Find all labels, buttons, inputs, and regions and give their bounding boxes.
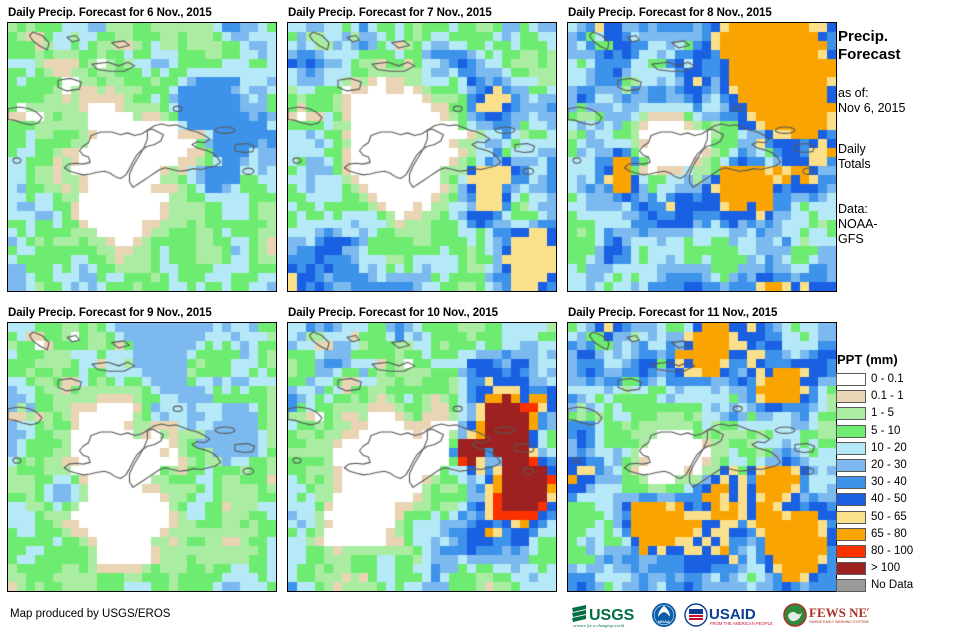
svg-text:science for a changing world: science for a changing world (573, 623, 625, 628)
map-box[interactable] (567, 322, 837, 592)
precip-raster-4[interactable] (288, 323, 556, 591)
map-box[interactable] (7, 22, 277, 292)
panel-4: Daily Precip. Forecast for 10 Nov., 2015 (287, 306, 557, 592)
precip-raster-2[interactable] (568, 23, 836, 291)
legend-title: PPT (mm) (837, 352, 968, 367)
legend-label: 0 - 0.1 (871, 373, 904, 386)
legend-item: 0 - 0.1 (836, 371, 968, 388)
legend-swatch (836, 476, 866, 489)
legend-item: 0.1 - 1 (836, 388, 968, 405)
legend-item: No Data (836, 577, 968, 594)
legend-label: 50 - 65 (871, 511, 907, 524)
panel-title: Daily Precip. Forecast for 6 Nov., 2015 (8, 6, 277, 20)
legend-item: 40 - 50 (836, 491, 968, 508)
legend-swatch (836, 442, 866, 455)
legend-swatch (836, 511, 866, 524)
legend-item: 30 - 40 (836, 474, 968, 491)
panel-title: Daily Precip. Forecast for 8 Nov., 2015 (568, 6, 837, 20)
usgs-logo[interactable]: USGS science for a changing world (570, 601, 644, 629)
legend-item: 10 - 20 (836, 440, 968, 457)
legend-swatch (836, 390, 866, 403)
legend-label: 40 - 50 (871, 493, 907, 506)
totals-line2: Totals (838, 157, 968, 172)
legend-item: 20 - 30 (836, 457, 968, 474)
panel-2: Daily Precip. Forecast for 8 Nov., 2015 (567, 6, 837, 292)
legend-swatch (836, 425, 866, 438)
svg-text:FAMINE EARLY WARNING SYSTEMS N: FAMINE EARLY WARNING SYSTEMS NETWORK (809, 620, 869, 624)
legend-rows: 0 - 0.10.1 - 11 - 55 - 1010 - 2020 - 303… (836, 371, 968, 594)
panel-title: Daily Precip. Forecast for 9 Nov., 2015 (8, 306, 277, 320)
asof-label: as of: (838, 86, 968, 101)
legend-label: 0.1 - 1 (871, 390, 904, 403)
asof-value: Nov 6, 2015 (838, 101, 968, 116)
data-source-line1: NOAA- (838, 217, 968, 232)
fewsnet-logo[interactable]: FEWS NET FAMINE EARLY WARNING SYSTEMS NE… (783, 601, 869, 629)
map-box[interactable] (287, 22, 557, 292)
svg-text:USGS: USGS (589, 607, 635, 624)
panel-3: Daily Precip. Forecast for 9 Nov., 2015 (7, 306, 277, 592)
panel-title: Daily Precip. Forecast for 10 Nov., 2015 (288, 306, 557, 320)
legend-swatch (836, 407, 866, 420)
usaid-logo[interactable]: USAID FROM THE AMERICAN PEOPLE (684, 601, 776, 629)
legend-label: 1 - 5 (871, 407, 894, 420)
panel-title: Daily Precip. Forecast for 7 Nov., 2015 (288, 6, 557, 20)
info-column: Precip. Forecast as of: Nov 6, 2015 Dail… (838, 28, 968, 247)
legend-swatch (836, 545, 866, 558)
precip-raster-1[interactable] (288, 23, 556, 291)
panel-title: Daily Precip. Forecast for 11 Nov., 2015 (568, 306, 837, 320)
legend-swatch (836, 528, 866, 541)
panel-0: Daily Precip. Forecast for 6 Nov., 2015 (7, 6, 277, 292)
map-credit: Map produced by USGS/EROS (10, 608, 170, 620)
svg-text:FEWS NET: FEWS NET (809, 605, 869, 620)
panel-1: Daily Precip. Forecast for 7 Nov., 2015 (287, 6, 557, 292)
legend-label: 10 - 20 (871, 442, 907, 455)
precip-raster-5[interactable] (568, 323, 836, 591)
legend-label: No Data (871, 579, 913, 592)
legend-label: 5 - 10 (871, 425, 900, 438)
precip-forecast-map-page: Daily Precip. Forecast for 6 Nov., 2015 … (0, 0, 970, 635)
legend-item: 1 - 5 (836, 405, 968, 422)
data-label: Data: (838, 202, 968, 217)
legend-item: 65 - 80 (836, 526, 968, 543)
svg-text:NOAA: NOAA (658, 619, 670, 624)
legend-label: > 100 (871, 562, 900, 575)
map-box[interactable] (287, 322, 557, 592)
info-heading-line2: Forecast (838, 46, 968, 64)
map-box[interactable] (567, 22, 837, 292)
legend-swatch (836, 493, 866, 506)
legend-item: 80 - 100 (836, 543, 968, 560)
legend-item: > 100 (836, 560, 968, 577)
legend-label: 65 - 80 (871, 528, 907, 541)
panel-5: Daily Precip. Forecast for 11 Nov., 2015 (567, 306, 837, 592)
data-source-line2: GFS (838, 232, 968, 247)
logo-strip: USGS science for a changing world NOAA U… (570, 600, 828, 630)
svg-text:FROM THE AMERICAN PEOPLE: FROM THE AMERICAN PEOPLE (710, 621, 773, 626)
legend-item: 5 - 10 (836, 423, 968, 440)
legend: PPT (mm) 0 - 0.10.1 - 11 - 55 - 1010 - 2… (836, 352, 968, 594)
map-box[interactable] (7, 322, 277, 592)
totals-line1: Daily (838, 142, 968, 157)
legend-label: 80 - 100 (871, 545, 913, 558)
legend-label: 20 - 30 (871, 459, 907, 472)
precip-raster-0[interactable] (8, 23, 276, 291)
legend-swatch (836, 373, 866, 386)
legend-swatch (836, 579, 866, 592)
info-heading-line1: Precip. (838, 28, 968, 46)
legend-swatch (836, 459, 866, 472)
legend-item: 50 - 65 (836, 509, 968, 526)
noaa-logo[interactable]: NOAA (651, 601, 677, 629)
precip-raster-3[interactable] (8, 323, 276, 591)
legend-label: 30 - 40 (871, 476, 907, 489)
legend-swatch (836, 562, 866, 575)
